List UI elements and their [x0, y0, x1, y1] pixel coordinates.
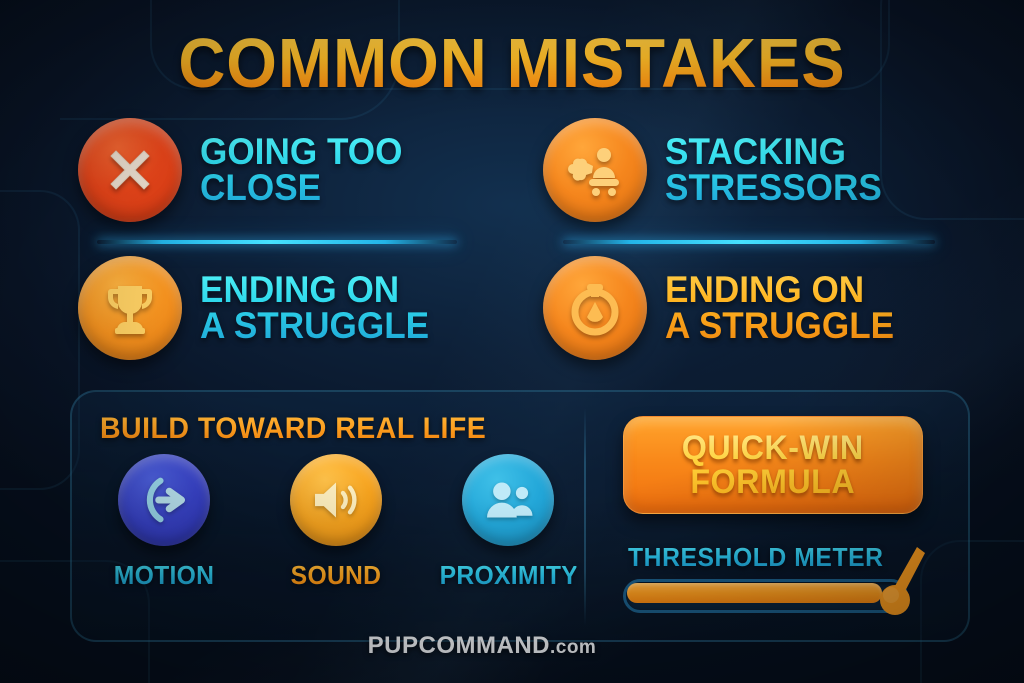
panel-title: BUILD TOWARD REAL LIFE	[100, 412, 486, 446]
divider-right	[563, 240, 935, 244]
channel-item-motion[interactable]: MOTION	[92, 454, 236, 591]
channel-label: MOTION	[96, 560, 233, 591]
mistake-label: STACKING STRESSORS	[665, 134, 882, 207]
mistake-item-ending-on-a-struggle-timer: ENDING ON A STRUGGLE	[543, 256, 906, 360]
channel-label: SOUND	[268, 560, 405, 591]
panel-vertical-divider	[584, 408, 586, 626]
divider-left	[97, 240, 457, 244]
channel-list: MOTION SOUND	[92, 454, 580, 591]
mistake-item-going-too-close: GOING TOO CLOSE	[78, 118, 413, 222]
build-toward-real-life-panel: BUILD TOWARD REAL LIFE MOTION	[70, 390, 970, 642]
mistake-item-ending-on-a-struggle-trophy: ENDING ON A STRUGGLE	[78, 256, 441, 360]
motion-arrow-icon	[118, 454, 210, 546]
channel-item-sound[interactable]: SOUND	[264, 454, 408, 591]
infographic-canvas: COMMON MISTAKES GOING TOO CLOSE ST	[0, 0, 1024, 683]
footer-brand: PUPCOMMAND.com	[0, 632, 1024, 660]
meter-needle-icon	[871, 543, 931, 621]
mistake-label: GOING TOO CLOSE	[200, 134, 402, 207]
speaker-icon	[290, 454, 382, 546]
trophy-icon	[78, 256, 182, 360]
people-icon	[462, 454, 554, 546]
brand-domain: .com	[550, 637, 596, 658]
page-title: COMMON MISTAKES	[36, 28, 988, 98]
channel-item-proximity[interactable]: PROXIMITY	[436, 454, 580, 591]
threshold-meter-label: THRESHOLD METER	[628, 542, 884, 573]
dog-bone-icon	[543, 118, 647, 222]
cross-icon	[78, 118, 182, 222]
meter-fill	[627, 583, 882, 603]
brand-name: PUPCOMMAND	[368, 632, 550, 659]
mistake-item-stacking-stressors: STACKING STRESSORS	[543, 118, 893, 222]
threshold-meter[interactable]	[623, 579, 908, 613]
quick-win-formula-button[interactable]: QUICK-WIN FORMULA	[623, 416, 923, 514]
channel-label: PROXIMITY	[440, 560, 577, 591]
background-decoration	[0, 190, 80, 490]
stopwatch-icon	[543, 256, 647, 360]
cta-label: QUICK-WIN FORMULA	[682, 431, 864, 499]
mistake-label: ENDING ON A STRUGGLE	[200, 272, 429, 345]
mistake-label: ENDING ON A STRUGGLE	[665, 272, 894, 345]
